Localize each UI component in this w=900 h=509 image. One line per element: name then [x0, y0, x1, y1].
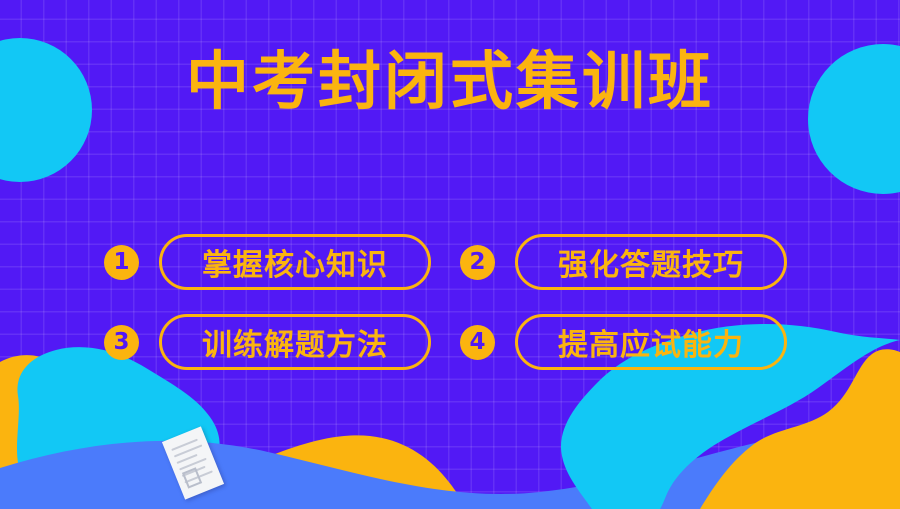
- feature-list: 1 掌握核心知识 2 强化答题技巧 3 训练解题方法 4 提高应试能力: [104, 222, 816, 382]
- feature-number-badge-4: 4: [460, 325, 495, 360]
- feature-label-pill-2[interactable]: 强化答题技巧: [515, 234, 787, 290]
- feature-number-badge-2: 2: [460, 245, 495, 280]
- feature-item-1[interactable]: 1 掌握核心知识: [104, 222, 460, 302]
- feature-number-badge-3: 3: [104, 325, 139, 360]
- feature-label-pill-1[interactable]: 掌握核心知识: [159, 234, 431, 290]
- page-title: 中考封闭式集训班: [0, 47, 900, 117]
- feature-item-4[interactable]: 4 提高应试能力: [460, 302, 816, 382]
- feature-label-pill-4[interactable]: 提高应试能力: [515, 314, 787, 370]
- feature-label-pill-3[interactable]: 训练解题方法: [159, 314, 431, 370]
- paper-sheet-icon: [162, 426, 224, 499]
- feature-item-2[interactable]: 2 强化答题技巧: [460, 222, 816, 302]
- feature-number-badge-1: 1: [104, 245, 139, 280]
- poster-canvas: 中考封闭式集训班 1 掌握核心知识 2 强化答题技巧 3 训练解题方法 4 提高…: [0, 0, 900, 509]
- feature-item-3[interactable]: 3 训练解题方法: [104, 302, 460, 382]
- blue-wave-bottom-icon: [0, 428, 900, 509]
